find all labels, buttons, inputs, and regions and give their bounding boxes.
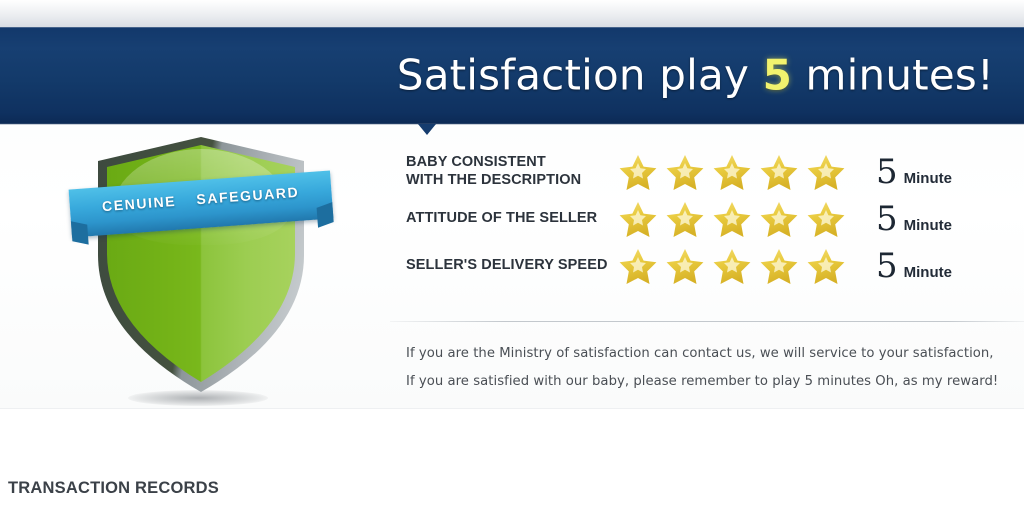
star-icon <box>618 153 658 191</box>
rating-label-line1: BABY CONSISTENT <box>406 154 618 172</box>
rating-value: 5 Minute <box>876 202 952 236</box>
rating-label-line1: ATTITUDE OF THE SELLER <box>406 210 618 228</box>
rating-row: BABY CONSISTENT WITH THE DESCRIPTION 5 M… <box>406 148 1006 195</box>
transaction-records-title: TRANSACTION RECORDS <box>8 479 219 498</box>
rating-value: 5 Minute <box>876 249 952 283</box>
rating-unit: Minute <box>904 217 952 234</box>
star-icon <box>759 153 799 191</box>
rating-label: SELLER'S DELIVERY SPEED <box>406 257 618 275</box>
rating-label-line2: WITH THE DESCRIPTION <box>406 172 618 190</box>
shield-drop-shadow <box>128 390 268 406</box>
shield-ribbon-text: CENUINE SAFEGUARD <box>69 181 331 216</box>
ribbon-label-right: SAFEGUARD <box>196 184 300 208</box>
note-line-1: If you are the Ministry of satisfaction … <box>406 340 1011 368</box>
banner-title-after: minutes! <box>792 50 994 99</box>
star-icon <box>712 247 752 285</box>
rating-number: 5 <box>876 249 898 283</box>
banner-pointer-icon <box>418 124 436 135</box>
banner-title-highlight: 5 <box>763 50 792 99</box>
star-icon <box>712 200 752 238</box>
star-icon <box>759 247 799 285</box>
star-icon <box>712 153 752 191</box>
rating-number: 5 <box>876 202 898 236</box>
section-divider <box>390 321 1024 322</box>
rating-label: ATTITUDE OF THE SELLER <box>406 210 618 228</box>
star-icon <box>759 200 799 238</box>
star-icon <box>665 247 705 285</box>
ratings-list: BABY CONSISTENT WITH THE DESCRIPTION 5 M… <box>406 148 1006 289</box>
ribbon-label-left: CENUINE <box>101 193 176 214</box>
rating-stars <box>618 247 870 285</box>
star-icon <box>806 153 846 191</box>
rating-unit: Minute <box>904 264 952 281</box>
page-root: Satisfaction play 5 minutes! CENUINE SAF… <box>0 0 1024 513</box>
rating-row: SELLER'S DELIVERY SPEED 5 Minute <box>406 242 1006 289</box>
rating-stars <box>618 153 870 191</box>
banner-title: Satisfaction play 5 minutes! <box>397 50 994 99</box>
note-line-2: If you are satisfied with our baby, plea… <box>406 368 1011 396</box>
star-icon <box>806 247 846 285</box>
rating-unit: Minute <box>904 170 952 187</box>
banner-title-before: Satisfaction play <box>397 50 763 99</box>
star-icon <box>618 200 658 238</box>
rating-stars <box>618 200 870 238</box>
star-icon <box>806 200 846 238</box>
rating-row: ATTITUDE OF THE SELLER 5 Minute <box>406 195 1006 242</box>
satisfaction-banner: Satisfaction play 5 minutes! <box>0 27 1024 124</box>
safeguard-shield-badge: CENUINE SAFEGUARD <box>76 135 326 400</box>
top-strip <box>0 0 1024 27</box>
satisfaction-note: If you are the Ministry of satisfaction … <box>406 340 1011 396</box>
rating-value: 5 Minute <box>876 155 952 189</box>
star-icon <box>665 153 705 191</box>
rating-number: 5 <box>876 155 898 189</box>
rating-label-line1: SELLER'S DELIVERY SPEED <box>406 257 618 275</box>
star-icon <box>665 200 705 238</box>
rating-label: BABY CONSISTENT WITH THE DESCRIPTION <box>406 154 618 189</box>
star-icon <box>618 247 658 285</box>
